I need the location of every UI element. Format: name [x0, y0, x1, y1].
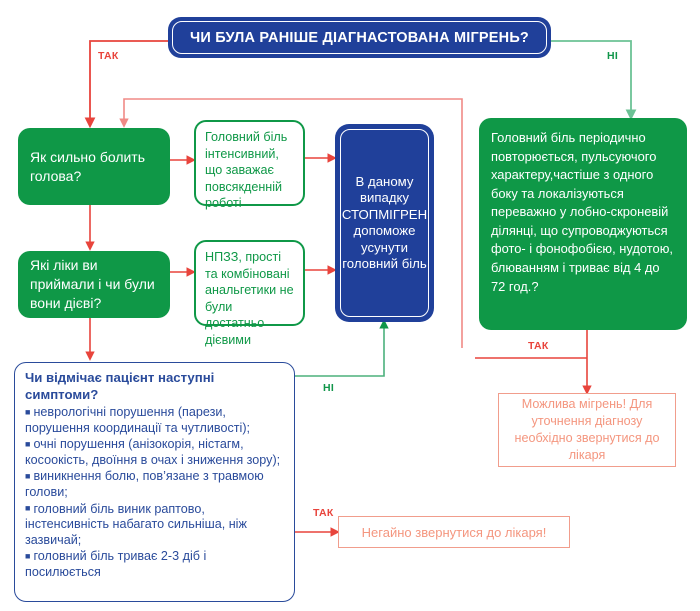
bullet-icon: ■: [25, 551, 30, 561]
edge-label-yes-symptoms: ТАК: [313, 507, 334, 519]
list-item-label: неврологічні порушення (парези, порушенн…: [25, 405, 250, 435]
migraine-criteria-label: Головний біль періодично повторюється, п…: [491, 130, 673, 294]
list-item-label: головний біль триває 2-3 діб і посилюєть…: [25, 549, 206, 579]
stopmigren-node[interactable]: В даному випадку СТОПМІГРЕН допоможе усу…: [335, 124, 434, 322]
pain-severity-answer-label: Головний біль інтенсивний, що заважає по…: [205, 130, 287, 210]
bullet-icon: ■: [25, 471, 30, 481]
list-item[interactable]: ■головний біль триває 2-3 діб і посилюєт…: [25, 549, 284, 580]
pain-severity-answer-node[interactable]: Головний біль інтенсивний, що заважає по…: [194, 120, 305, 206]
list-item-label: виникнення болю, пов’язане з травмою гол…: [25, 469, 264, 499]
list-item[interactable]: ■неврологічні порушення (парези, порушен…: [25, 405, 284, 436]
bullet-icon: ■: [25, 407, 30, 417]
flowchart-canvas: ЧИ БУЛА РАНІШЕ ДІАГНАСТОВАНА МІГРЕНЬ? Як…: [0, 0, 700, 611]
list-item-label: очні порушення (анізокорія, ністагм, кос…: [25, 437, 280, 467]
list-item[interactable]: ■головний біль виник раптово, інстенсивн…: [25, 502, 284, 549]
symptoms-panel-node[interactable]: Чи відмічає пацієнт наступні симптоми? ■…: [14, 362, 295, 602]
symptoms-panel-title: Чи відмічає пацієнт наступні симптоми?: [25, 370, 284, 403]
list-item[interactable]: ■очні порушення (анізокорія, ністагм, ко…: [25, 437, 284, 468]
edge-label-yes-criteria: ТАК: [528, 340, 549, 352]
migraine-criteria-node[interactable]: Головний біль періодично повторюється, п…: [479, 118, 687, 330]
root-question-label: ЧИ БУЛА РАНІШЕ ДІАГНАСТОВАНА МІГРЕНЬ?: [190, 30, 529, 46]
pain-severity-question-label: Як сильно болить голова?: [30, 148, 158, 186]
root-question-node[interactable]: ЧИ БУЛА РАНІШЕ ДІАГНАСТОВАНА МІГРЕНЬ?: [168, 17, 551, 58]
pain-severity-question-node[interactable]: Як сильно болить голова?: [18, 128, 170, 205]
list-item-label: головний біль виник раптово, інстенсивні…: [25, 502, 247, 547]
edge-label-no-top-right: НІ: [607, 50, 618, 62]
medication-answer-label: НПЗЗ, прості та комбіновані анальгетики …: [205, 250, 294, 347]
stopmigren-label: В даному випадку СТОПМІГРЕН допоможе усу…: [335, 124, 434, 322]
medication-question-node[interactable]: Які ліки ви приймали і чи були вони дієв…: [18, 251, 170, 318]
edge-label-no-symptoms: НІ: [323, 382, 334, 394]
list-item[interactable]: ■виникнення болю, пов’язане з травмою го…: [25, 469, 284, 500]
possible-migraine-node[interactable]: Можлива мігрень! Для уточнення діагнозу …: [498, 393, 676, 467]
symptoms-list: ■неврологічні порушення (парези, порушен…: [25, 405, 284, 581]
bullet-icon: ■: [25, 503, 30, 513]
edge-label-yes-top-left: ТАК: [98, 50, 119, 62]
urgent-doctor-label: Негайно звернутися до лікаря!: [362, 525, 547, 540]
medication-answer-node[interactable]: НПЗЗ, прості та комбіновані анальгетики …: [194, 240, 305, 326]
medication-question-label: Які ліки ви приймали і чи були вони дієв…: [30, 256, 158, 312]
edge-root-no: [551, 41, 631, 117]
urgent-doctor-node[interactable]: Негайно звернутися до лікаря!: [338, 516, 570, 548]
bullet-icon: ■: [25, 439, 30, 449]
possible-migraine-label: Можлива мігрень! Для уточнення діагнозу …: [505, 396, 669, 465]
